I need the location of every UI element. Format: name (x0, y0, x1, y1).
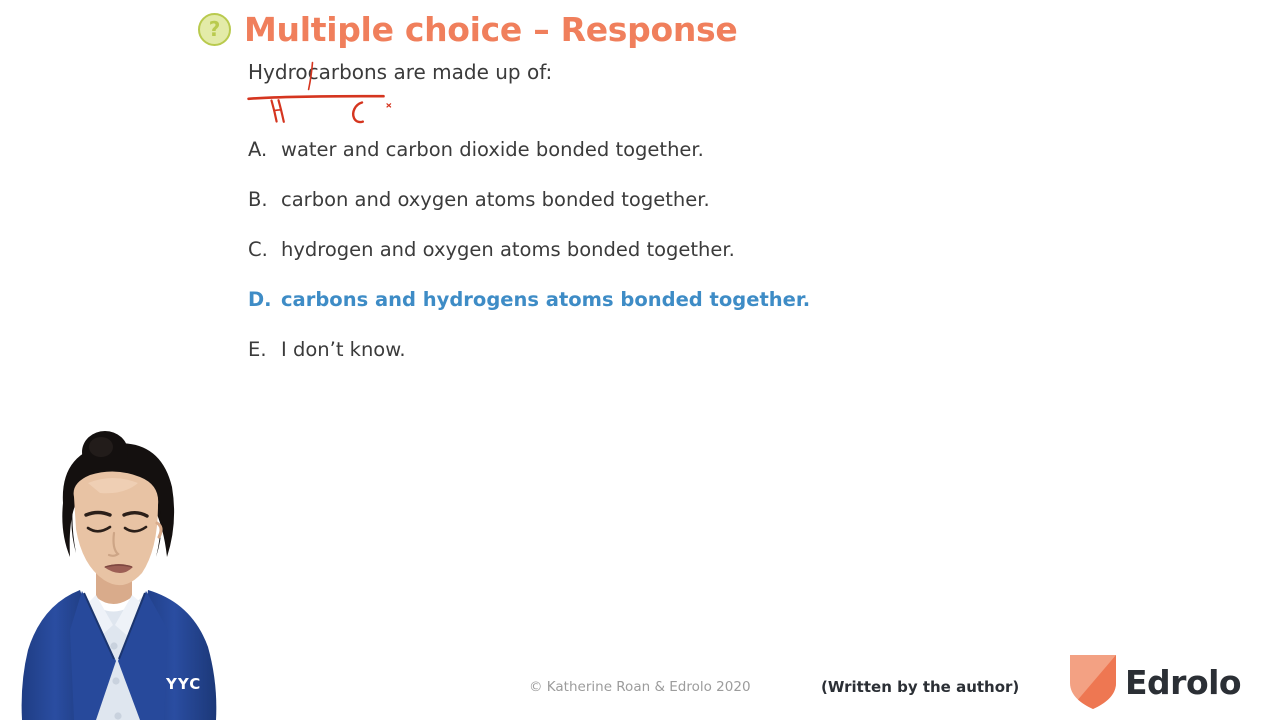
presenter-badge-text: YYC (165, 675, 201, 693)
answer-option-d[interactable]: D. carbons and hydrogens atoms bonded to… (248, 288, 948, 338)
question-mark-circle-icon: ? (198, 13, 231, 46)
brand-wordmark: Edrolo (1125, 666, 1241, 699)
option-text: water and carbon dioxide bonded together… (281, 138, 704, 161)
shield-icon (1070, 655, 1116, 709)
answer-option-c[interactable]: C. hydrogen and oxygen atoms bonded toge… (248, 238, 948, 288)
option-text: hydrogen and oxygen atoms bonded togethe… (281, 238, 735, 261)
presenter-video-overlay[interactable]: YYC (0, 425, 270, 720)
option-letter: A. (248, 138, 281, 161)
option-text: I don’t know. (281, 338, 406, 361)
ink-letter-c (353, 103, 363, 123)
page-title: Multiple choice – Response (244, 10, 737, 49)
option-letter: E. (248, 338, 281, 361)
answer-option-e[interactable]: E. I don’t know. (248, 338, 948, 388)
ink-letter-h (272, 101, 277, 122)
copyright-notice: © Katherine Roan & Edrolo 2020 (529, 679, 751, 695)
author-note: (Written by the author) (821, 678, 1019, 696)
ink-underline (249, 96, 384, 99)
option-text: carbons and hydrogens atoms bonded toget… (281, 288, 810, 311)
ink-tick (387, 104, 391, 107)
answer-options-list: A. water and carbon dioxide bonded toget… (248, 138, 948, 388)
slide-header: ? Multiple choice – Response (198, 10, 737, 49)
question-mark-glyph: ? (209, 19, 221, 39)
option-letter: B. (248, 188, 281, 211)
slide-canvas: ? Multiple choice – Response Hydrocarbon… (0, 0, 1280, 720)
option-text: carbon and oxygen atoms bonded together. (281, 188, 710, 211)
option-letter: D. (248, 288, 281, 311)
edrolo-logo: Edrolo (1070, 655, 1241, 709)
question-stem: Hydrocarbons are made up of: (248, 60, 552, 84)
option-letter: C. (248, 238, 281, 261)
answer-option-b[interactable]: B. carbon and oxygen atoms bonded togeth… (248, 188, 948, 238)
answer-option-a[interactable]: A. water and carbon dioxide bonded toget… (248, 138, 948, 188)
